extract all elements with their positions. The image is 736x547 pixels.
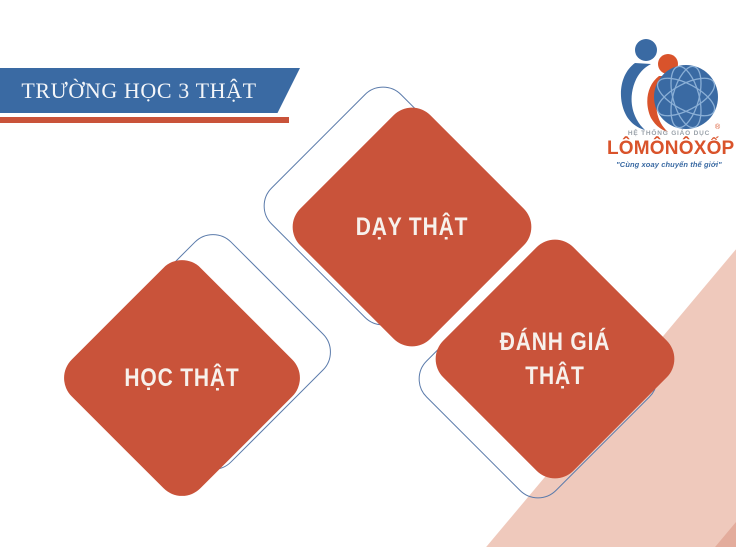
diamond-label: ĐÁNH GIÁ THẬT (478, 267, 633, 451)
diamond-label: HỌC THẬT (106, 287, 259, 469)
logo-mark: ® (615, 33, 723, 133)
page-title: TRƯỜNG HỌC 3 THẬT (0, 68, 278, 113)
globe-icon (652, 63, 720, 131)
logo-graphic: ® (615, 33, 723, 133)
logo-tagline-top: HỆ THỐNG GIÁO DỤC (607, 129, 731, 138)
diamond-danh-gia-that[interactable]: ĐÁNH GIÁ THẬT (425, 255, 685, 515)
banner-accent-bar (0, 117, 289, 123)
logo-brand-name: LÔMÔNÔXỐP (607, 138, 731, 159)
slide-canvas: TRƯỜNG HỌC 3 THẬT (0, 0, 736, 547)
brand-logo: ® HỆ THỐNG GIÁO DỤC LÔMÔNÔXỐP "Cùng xoay… (607, 33, 731, 183)
logo-slogan: "Cùng xoay chuyển thế giới" (607, 159, 731, 170)
title-banner: TRƯỜNG HỌC 3 THẬT (0, 68, 310, 124)
logo-text-block: HỆ THỐNG GIÁO DỤC LÔMÔNÔXỐP "Cùng xoay c… (607, 129, 731, 170)
